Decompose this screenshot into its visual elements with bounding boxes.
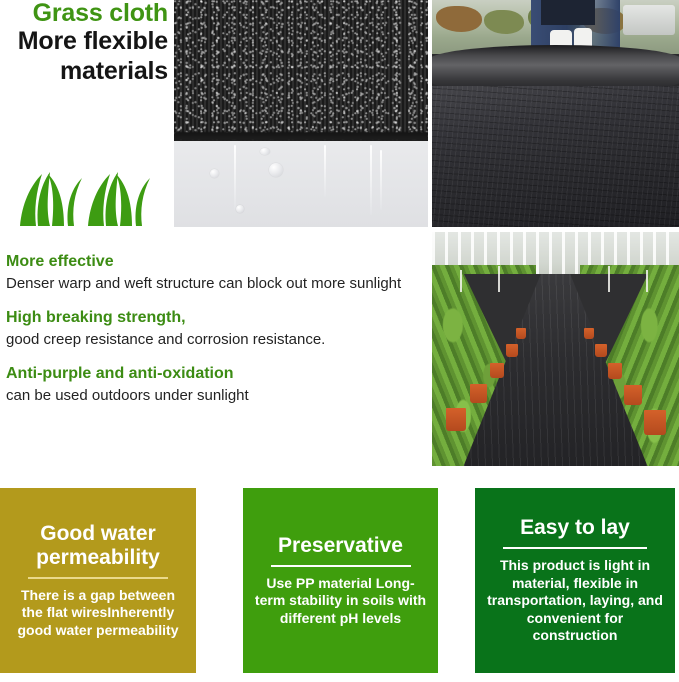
panel-title: Good water permeability xyxy=(10,522,186,570)
plant-pot xyxy=(470,384,487,403)
fabric-roll-photo xyxy=(432,0,679,227)
plant-pot xyxy=(506,344,518,357)
page-title-line2: More flexible xyxy=(0,27,168,57)
feature-heading: More effective xyxy=(6,252,424,273)
panel-title: Preservative xyxy=(278,534,403,558)
water-droplet xyxy=(236,205,244,213)
water-droplet xyxy=(210,169,219,178)
background-foliage xyxy=(484,10,524,34)
plant-pot xyxy=(608,363,622,379)
water-droplet xyxy=(269,163,283,177)
feature-body: good creep resistance and corrosion resi… xyxy=(6,330,424,349)
background-vehicle xyxy=(623,5,675,35)
water-drip xyxy=(324,145,326,197)
panel-divider xyxy=(503,547,647,549)
page-title-line3: materials xyxy=(0,57,168,87)
support-pole xyxy=(460,270,462,292)
page-title-accent: Grass cloth xyxy=(0,0,168,27)
panel-title: Easy to lay xyxy=(520,516,630,540)
feature-item: High breaking strength, good creep resis… xyxy=(6,308,424,349)
feature-body: can be used outdoors under sunlight xyxy=(6,386,424,405)
plant-pot xyxy=(644,410,666,435)
benefit-panel-preservative: Preservative Use PP material Long-term s… xyxy=(243,488,438,673)
worker-torso xyxy=(541,0,595,25)
plant-pot xyxy=(584,328,594,339)
support-pole xyxy=(498,266,500,292)
panel-body: There is a gap between the flat wiresInh… xyxy=(10,587,186,640)
water-droplet xyxy=(260,148,270,155)
support-pole xyxy=(646,270,648,292)
water-drip xyxy=(370,145,372,215)
greenhouse-photo xyxy=(432,232,679,466)
fabric-weave-texture xyxy=(174,0,428,141)
plant-pot xyxy=(624,385,642,405)
plant-pot xyxy=(516,328,526,339)
fabric-underlay xyxy=(174,141,428,227)
hero-title-block: Grass cloth More flexible materials xyxy=(0,0,172,86)
fabric-macro-photo xyxy=(174,0,428,227)
feature-body: Denser warp and weft structure can block… xyxy=(6,274,424,293)
feature-list: More effective Denser warp and weft stru… xyxy=(6,252,424,420)
benefit-panel-water-permeability: Good water permeability There is a gap b… xyxy=(0,488,196,673)
feature-item: Anti-purple and anti-oxidation can be us… xyxy=(6,364,424,405)
plant-pot xyxy=(490,363,504,378)
plant-pot xyxy=(446,408,466,431)
feature-heading: High breaking strength, xyxy=(6,308,424,329)
grass-tuft-icon xyxy=(12,160,162,230)
hero-section: Grass cloth More flexible materials xyxy=(0,0,679,230)
fabric-sheet xyxy=(432,86,679,227)
feature-item: More effective Denser warp and weft stru… xyxy=(6,252,424,293)
panel-divider xyxy=(28,577,169,579)
water-drip xyxy=(234,145,236,210)
water-drip xyxy=(380,150,382,210)
benefit-panel-easy-to-lay: Easy to lay This product is light in mat… xyxy=(475,488,675,673)
panel-body: This product is light in material, flexi… xyxy=(485,557,665,645)
support-pole xyxy=(608,266,610,292)
panel-body: Use PP material Long-term stability in s… xyxy=(253,575,428,628)
panel-divider xyxy=(271,565,411,567)
feature-heading: Anti-purple and anti-oxidation xyxy=(6,364,424,385)
plant-pot xyxy=(595,344,607,357)
benefit-panels: Good water permeability There is a gap b… xyxy=(0,488,679,674)
